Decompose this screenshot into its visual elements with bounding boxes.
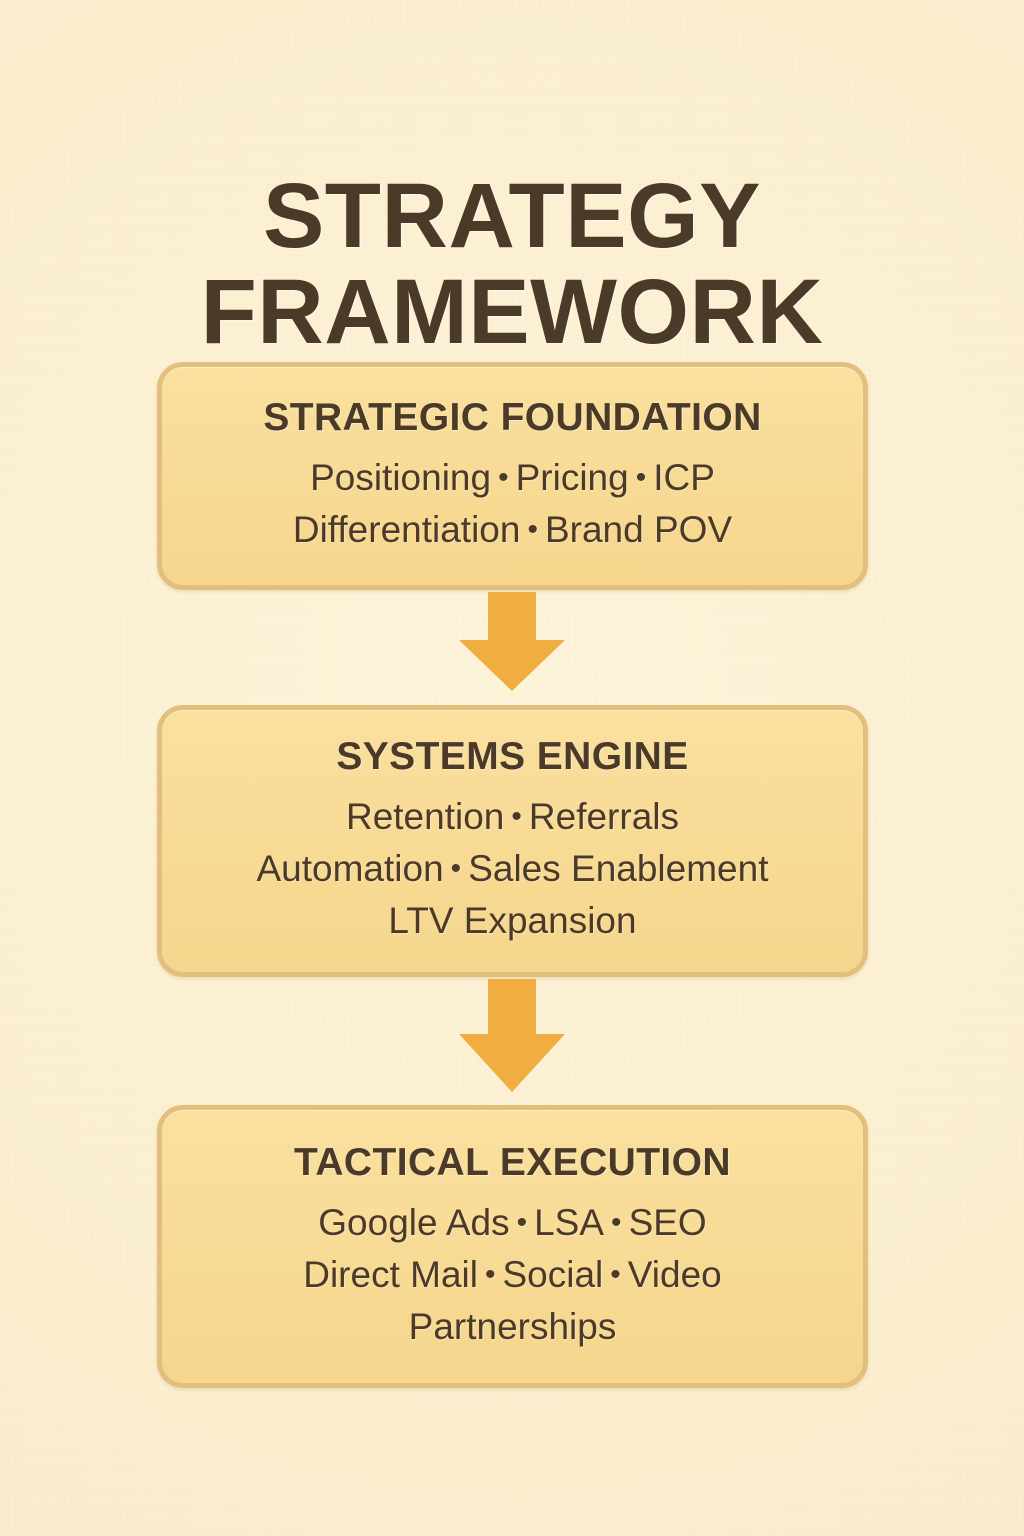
stage-item: SEO [629,1202,707,1243]
stage-item-line: Retention•Referrals [257,791,769,843]
bullet-separator-icon: • [491,452,516,504]
stage-item: Differentiation [293,509,521,550]
stage-item-line: Automation•Sales Enablement [257,843,769,895]
bullet-separator-icon: • [603,1249,628,1301]
stage-item: Video [628,1254,722,1295]
stage-heading: SYSTEMS ENGINE [336,735,688,779]
stage-heading: STRATEGIC FOUNDATION [263,396,761,440]
bullet-separator-icon: • [478,1249,503,1301]
stage-item: Automation [257,848,444,889]
stage-item: LSA [534,1202,604,1243]
bullet-separator-icon: • [504,791,529,843]
stage-item-line: Google Ads•LSA•SEO [303,1197,722,1249]
bullet-separator-icon: • [604,1197,629,1249]
stage-item: ICP [653,457,715,498]
bullet-separator-icon: • [629,452,654,504]
page-title: STRATEGY FRAMEWORK [0,168,1024,360]
bullet-separator-icon: • [520,504,545,556]
stage-box-strategic-foundation: STRATEGIC FOUNDATION Positioning•Pricing… [157,362,868,590]
stage-item: Brand POV [545,509,732,550]
stage-item: Direct Mail [303,1254,478,1295]
arrow-systems-to-tactical-icon [457,979,567,1093]
stage-item-line: LTV Expansion [257,895,769,947]
page-title-line-1: STRATEGY [0,168,1024,264]
stage-box-systems-engine: SYSTEMS ENGINE Retention•ReferralsAutoma… [157,705,868,977]
stage-box-tactical-execution: TACTICAL EXECUTION Google Ads•LSA•SEODir… [157,1105,868,1388]
page-title-line-2: FRAMEWORK [0,264,1024,360]
stage-items: Google Ads•LSA•SEODirect Mail•Social•Vid… [303,1197,722,1353]
stage-item-line: Positioning•Pricing•ICP [293,452,732,504]
stage-item: Social [503,1254,604,1295]
stage-item: Google Ads [318,1202,509,1243]
bullet-separator-icon: • [510,1197,535,1249]
stage-item: Sales Enablement [468,848,768,889]
arrow-foundation-to-systems-icon [457,592,567,692]
bullet-separator-icon: • [444,843,469,895]
stage-item: Positioning [310,457,491,498]
stage-items: Positioning•Pricing•ICPDifferentiation•B… [293,452,732,556]
stage-items: Retention•ReferralsAutomation•Sales Enab… [257,791,769,947]
stage-item: Referrals [529,796,679,837]
strategy-framework-poster: STRATEGY FRAMEWORK STRATEGIC FOUNDATION … [0,0,1024,1536]
stage-item-line: Direct Mail•Social•Video [303,1249,722,1301]
stage-item: Pricing [516,457,629,498]
stage-heading: TACTICAL EXECUTION [294,1141,731,1185]
stage-item: LTV Expansion [388,900,636,941]
stage-item-line: Partnerships [303,1301,722,1353]
stage-item-line: Differentiation•Brand POV [293,504,732,556]
stage-item: Retention [346,796,504,837]
stage-item: Partnerships [409,1306,617,1347]
